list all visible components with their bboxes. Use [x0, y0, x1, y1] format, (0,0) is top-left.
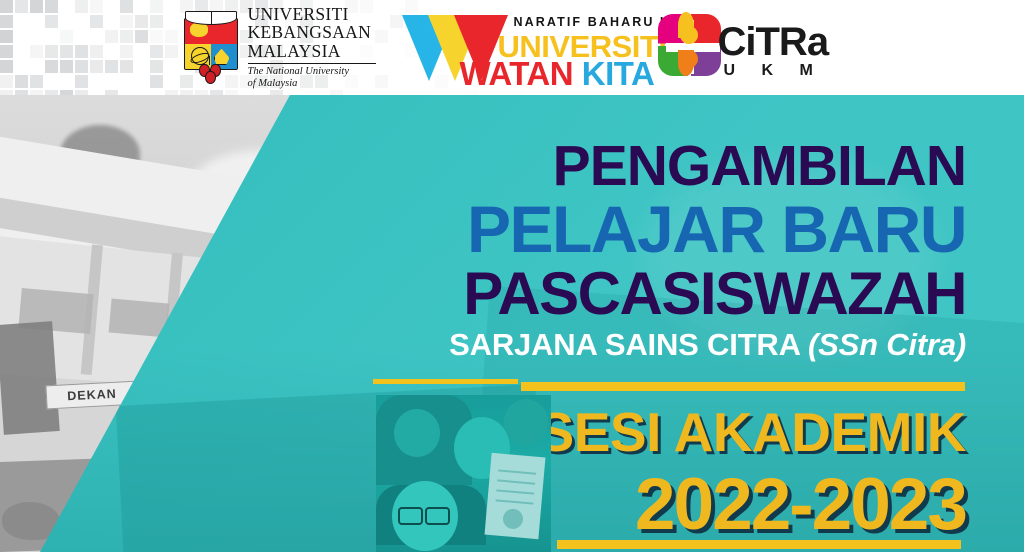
session-years: 2022-2023 [635, 463, 966, 546]
ukm-tagline-1: The National University [248, 66, 376, 78]
ukm-line-1: UNIVERSITI [248, 6, 376, 24]
ukm-tagline-2: of Malaysia [248, 78, 376, 90]
headline-pelajar-baru: PELAJAR BARU [467, 191, 966, 267]
naratif-watan-kita: WATAN KITA [460, 55, 655, 93]
programme-name: SARJANA SAINS CITRA [449, 327, 808, 362]
programme-name-line: SARJANA SAINS CITRA (SSn Citra) [449, 327, 966, 363]
logo-row: UNIVERSITI KEBANGSAAN MALAYSIA The Natio… [0, 0, 1024, 95]
graduating-students-photo [376, 395, 551, 552]
ukm-logo: UNIVERSITI KEBANGSAAN MALAYSIA The Natio… [181, 6, 376, 90]
naratif-baharu-logo: NARATIF BAHARU UKM UNIVERSITI WATAN KITA [402, 9, 634, 87]
ukm-divider [248, 63, 376, 64]
naratif-watan: WATAN [460, 55, 574, 92]
citra-ukm-logo: CiTRa U K M [658, 8, 844, 88]
header-logo-band: UNIVERSITI KEBANGSAAN MALAYSIA The Natio… [0, 0, 1024, 95]
citra-ukm-subtext: U K M [724, 62, 824, 80]
ukm-wordmark: UNIVERSITI KEBANGSAAN MALAYSIA The Natio… [248, 6, 376, 90]
ukm-line-2: KEBANGSAAN [248, 24, 376, 42]
citra-wordmark: CiTRa [718, 22, 829, 62]
headline-pengambilan: PENGAMBILAN [553, 133, 966, 199]
programme-abbrev: (SSn Citra) [808, 327, 966, 362]
naratif-kita: KITA [582, 55, 655, 92]
yellow-rule-bottom [557, 540, 961, 549]
headline-pascasiswazah: PASCASISWAZAH [463, 259, 966, 328]
ukm-crest-icon [181, 10, 239, 84]
yellow-rule-top [521, 382, 965, 391]
ukm-line-3: MALAYSIA [248, 43, 376, 61]
session-label: SESI AKADEMIK [538, 400, 966, 464]
yellow-rule-left [373, 379, 518, 384]
poster-banner: UNIVERSITI KEBANGSAAN MALAYSIA The Natio… [0, 0, 1024, 552]
